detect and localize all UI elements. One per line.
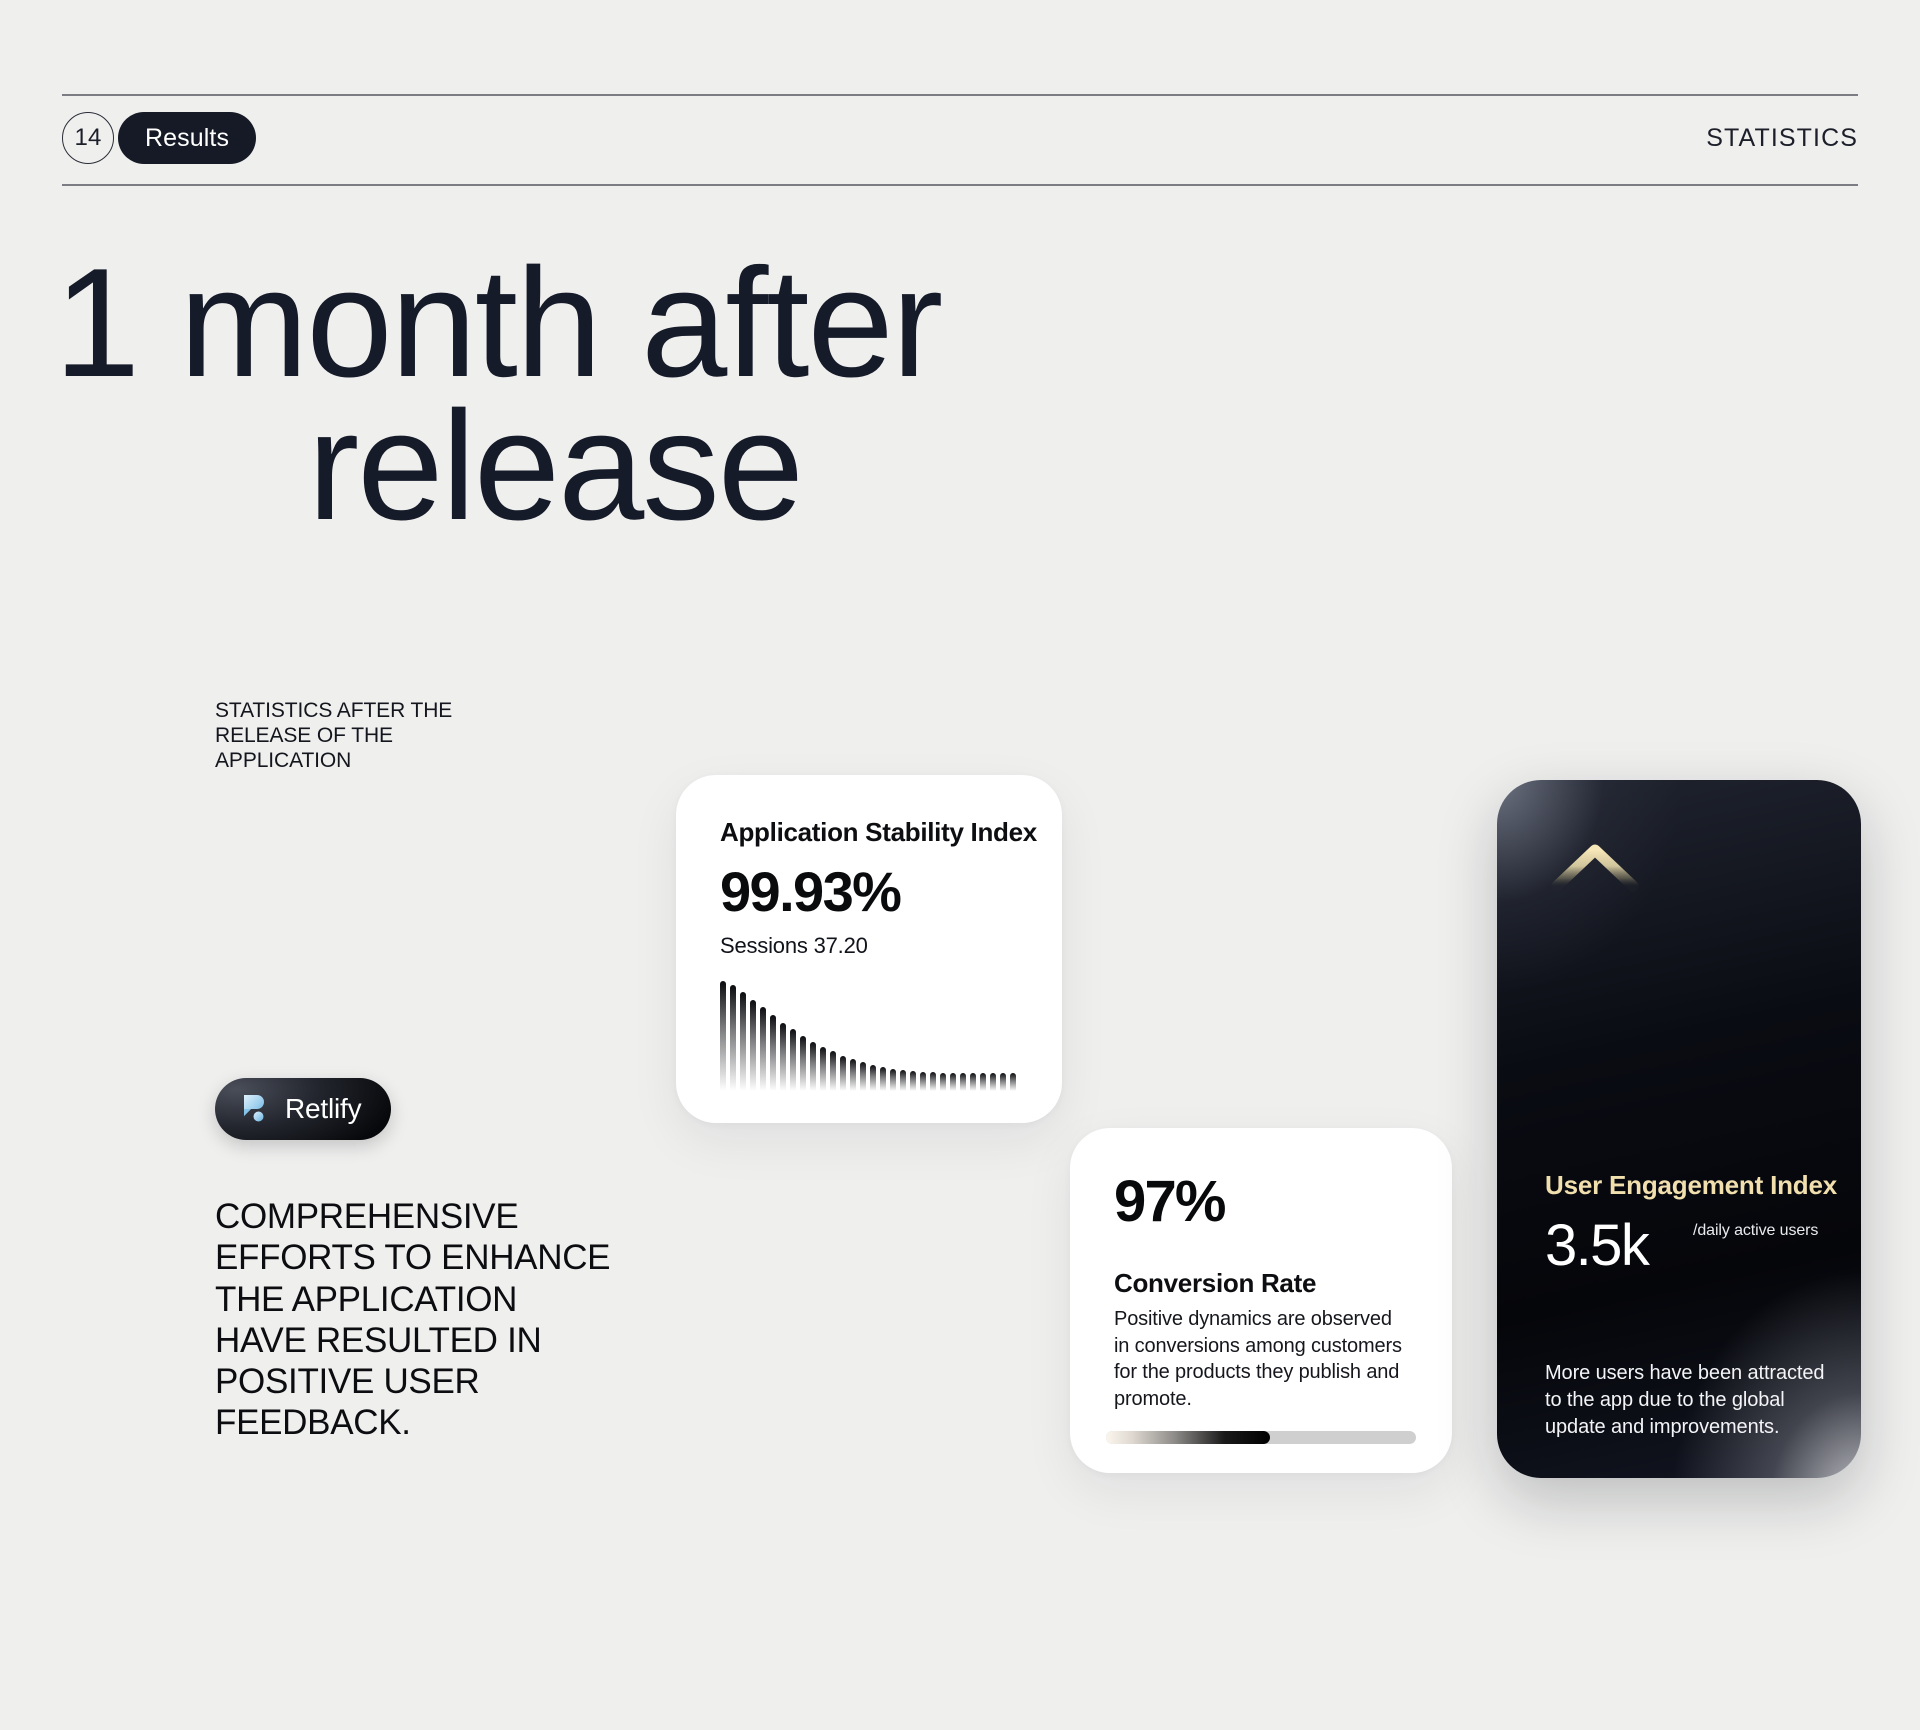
sparkline-bar <box>750 1000 756 1091</box>
sparkline-bar <box>970 1073 976 1091</box>
sparkline-bar <box>890 1069 896 1091</box>
stability-subtitle: Sessions 37.20 <box>720 933 868 959</box>
sparkline-bar <box>950 1073 956 1091</box>
sparkline-bar <box>910 1071 916 1091</box>
card-conversion-rate[interactable]: 97% Conversion Rate Positive dynamics ar… <box>1070 1128 1452 1473</box>
sparkline-bar <box>800 1036 806 1091</box>
lead-statement: COMPREHENSIVE EFFORTS TO ENHANCE THE APP… <box>215 1196 615 1444</box>
sparkline-bar <box>730 985 736 1091</box>
engagement-unit-label: /daily active users <box>1693 1222 1818 1240</box>
kicker-line-2: RELEASE OF THE <box>215 723 495 748</box>
sparkline-bar <box>830 1051 836 1091</box>
sparkline-bar <box>990 1073 996 1091</box>
sparkline-bar <box>940 1073 946 1091</box>
conversion-value: 97% <box>1114 1168 1225 1235</box>
sparkline-bar <box>860 1062 866 1091</box>
conversion-progress-track <box>1106 1431 1416 1444</box>
sparkline-bar <box>760 1007 766 1091</box>
page-title: 1 month after release <box>54 252 1014 537</box>
sparkline-bar <box>790 1029 796 1091</box>
stability-value: 99.93% <box>720 859 900 924</box>
sparkline-bar <box>880 1067 886 1091</box>
sparkline-bar <box>900 1070 906 1091</box>
sparkline-bar <box>720 981 726 1091</box>
sparkline-bar <box>850 1059 856 1091</box>
conversion-title: Conversion Rate <box>1114 1268 1316 1299</box>
brand-name-label: Retlify <box>285 1093 361 1125</box>
kicker-text: STATISTICS AFTER THE RELEASE OF THE APPL… <box>215 698 495 774</box>
slide-root: 14 Results STATISTICS 1 month after rele… <box>0 0 1920 1730</box>
sparkline-bar <box>810 1042 816 1092</box>
card-user-engagement[interactable]: User Engagement Index 3.5k /daily active… <box>1497 780 1861 1478</box>
sparkline-bar <box>920 1072 926 1091</box>
engagement-value: 3.5k <box>1545 1212 1648 1279</box>
sparkline-bar <box>930 1072 936 1091</box>
sparkline-bar <box>740 992 746 1091</box>
page-title-line-2: release <box>54 395 1014 538</box>
header-rule-bottom <box>62 184 1858 186</box>
header-left-group: 14 Results <box>62 112 256 164</box>
engagement-description: More users have been attracted to the ap… <box>1545 1360 1827 1440</box>
arrow-up-icon <box>1549 842 1641 960</box>
sparkline-bar <box>1000 1073 1006 1091</box>
sparkline-bar <box>840 1056 846 1091</box>
conversion-progress-fill <box>1106 1431 1270 1444</box>
page-number-badge: 14 <box>62 112 114 164</box>
stability-title: Application Stability Index <box>720 817 1037 848</box>
engagement-title: User Engagement Index <box>1545 1170 1837 1201</box>
kicker-line-3: APPLICATION <box>215 748 495 773</box>
sparkline-bar <box>960 1073 966 1091</box>
retlify-logo-icon <box>237 1092 271 1126</box>
sparkline-bar <box>780 1023 786 1091</box>
stability-sparkline-chart <box>720 981 1020 1091</box>
kicker-line-1: STATISTICS AFTER THE <box>215 698 495 723</box>
slide-header: 14 Results STATISTICS <box>62 94 1858 184</box>
sparkline-bar <box>1010 1073 1016 1091</box>
section-chip-results[interactable]: Results <box>118 112 256 164</box>
sparkline-bar <box>980 1073 986 1091</box>
card-application-stability[interactable]: Application Stability Index 99.93% Sessi… <box>676 775 1062 1123</box>
conversion-description: Positive dynamics are observed in conver… <box>1114 1306 1404 1412</box>
section-label-statistics: STATISTICS <box>1706 124 1858 153</box>
header-rule-top <box>62 94 1858 96</box>
brand-badge-retlify[interactable]: Retlify <box>215 1078 391 1140</box>
sparkline-bar <box>770 1015 776 1091</box>
page-title-line-1: 1 month after <box>54 252 1014 395</box>
sparkline-bar <box>820 1047 826 1091</box>
sparkline-bar <box>870 1065 876 1091</box>
